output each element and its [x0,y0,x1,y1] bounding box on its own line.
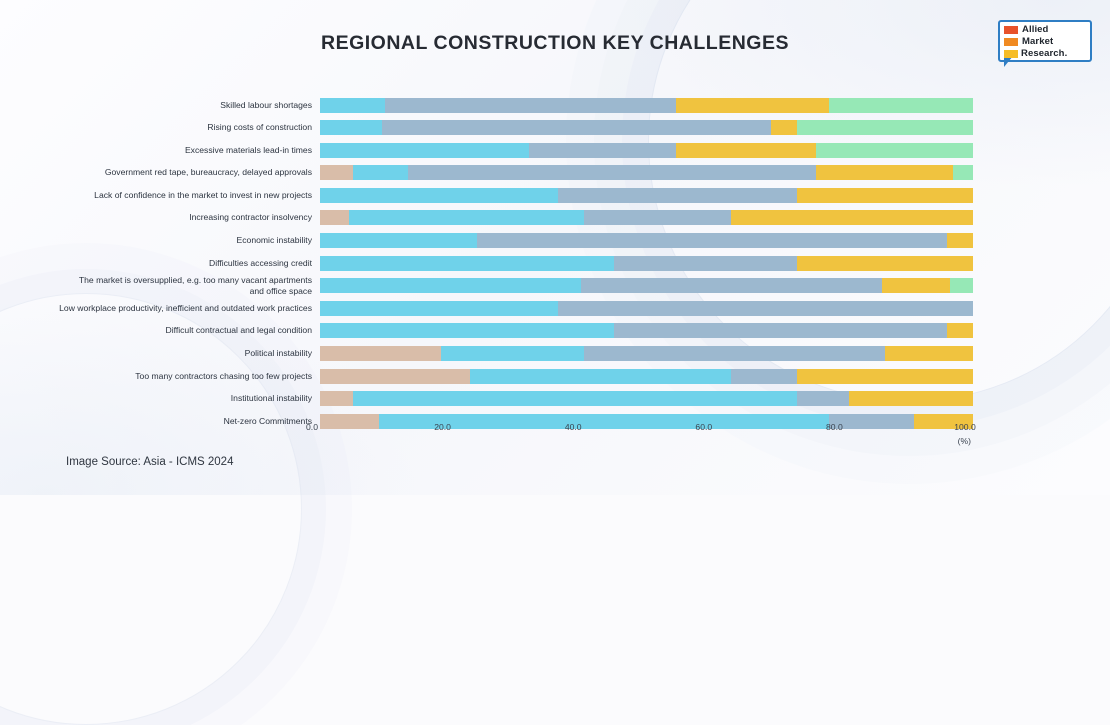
logo-swatch-yellow-icon [1004,50,1018,58]
bar-segment-series-1[interactable] [320,369,470,384]
bar-segment-series-4[interactable] [882,278,951,293]
stacked-bar[interactable] [320,143,973,158]
bar-segment-series-2[interactable] [320,323,614,338]
image-source-caption: Image Source: Asia - ICMS 2024 [66,456,233,468]
bar-segment-series-1[interactable] [320,346,441,361]
bar-segment-series-3[interactable] [731,369,796,384]
chart-rows: Skilled labour shortagesRising costs of … [0,96,1110,435]
bar-segment-series-2[interactable] [320,278,581,293]
category-label: Difficult contractual and legal conditio… [0,325,320,336]
stacked-bar[interactable] [320,165,973,180]
category-label: Government red tape, bureaucracy, delaye… [0,167,320,178]
category-label: Net-zero Commitments [0,416,320,427]
stacked-bar[interactable] [320,210,973,225]
bar-segment-series-2[interactable] [320,233,477,248]
chart-row: Rising costs of construction [0,119,1110,137]
category-label: Economic instability [0,235,320,246]
bar-segment-series-2[interactable] [353,165,409,180]
bar-segment-series-4[interactable] [797,188,973,203]
bar-segment-series-5[interactable] [797,120,973,135]
bar-segment-series-3[interactable] [558,188,796,203]
chart-row: Economic instability [0,232,1110,250]
chart-row: Political instability [0,345,1110,363]
stacked-bar-chart: Skilled labour shortagesRising costs of … [0,96,1110,431]
category-label: Institutional instability [0,393,320,404]
bar-segment-series-1[interactable] [320,165,353,180]
bar-segment-series-5[interactable] [953,165,973,180]
logo-swatch-orange-icon [1004,38,1018,46]
bar-segment-series-4[interactable] [771,120,797,135]
bar-segment-series-4[interactable] [885,346,973,361]
logo-row-3: Research. [1004,49,1110,58]
bar-segment-series-3[interactable] [529,143,676,158]
stacked-bar[interactable] [320,301,973,316]
bar-segment-series-2[interactable] [470,369,731,384]
x-axis-unit-label: (%) [958,436,971,446]
page-title: REGIONAL CONSTRUCTION KEY CHALLENGES [0,32,1110,55]
chart-row: Difficult contractual and legal conditio… [0,322,1110,340]
chart-row: Government red tape, bureaucracy, delaye… [0,164,1110,182]
logo-row-1: Allied [1004,25,1110,34]
bar-segment-series-2[interactable] [353,391,797,406]
bar-segment-series-3[interactable] [385,98,676,113]
bar-segment-series-2[interactable] [349,210,584,225]
bar-segment-series-3[interactable] [558,301,973,316]
bar-segment-series-1[interactable] [320,210,349,225]
logo-text-rows: Allied Market Research. [1004,25,1110,58]
stacked-bar[interactable] [320,278,973,293]
bar-segment-series-2[interactable] [320,256,614,271]
bar-segment-series-2[interactable] [320,143,529,158]
category-label: Political instability [0,348,320,359]
bar-segment-series-3[interactable] [584,346,884,361]
category-label: Increasing contractor insolvency [0,212,320,223]
allied-market-research-logo: Allied Market Research. [992,18,1092,66]
logo-line-1: Allied [1022,26,1048,34]
bar-segment-series-4[interactable] [797,256,973,271]
bar-segment-series-4[interactable] [731,210,973,225]
bar-segment-series-5[interactable] [950,278,973,293]
stacked-bar[interactable] [320,120,973,135]
chart-row: Too many contractors chasing too few pro… [0,367,1110,385]
stacked-bar[interactable] [320,256,973,271]
chart-row: Skilled labour shortages [0,96,1110,114]
stacked-bar[interactable] [320,188,973,203]
stacked-bar[interactable] [320,346,973,361]
bar-segment-series-3[interactable] [614,256,797,271]
category-label: Too many contractors chasing too few pro… [0,371,320,382]
chart-row: Low workplace productivity, inefficient … [0,299,1110,317]
bar-segment-series-4[interactable] [816,165,953,180]
bar-segment-series-3[interactable] [408,165,816,180]
x-axis-tick-label: 0.0 [306,422,318,432]
category-label: Lack of confidence in the market to inve… [0,190,320,201]
bar-segment-series-2[interactable] [320,188,558,203]
bar-segment-series-2[interactable] [320,120,382,135]
bar-segment-series-2[interactable] [320,301,558,316]
logo-line-2: Market [1022,38,1053,46]
stacked-bar[interactable] [320,323,973,338]
chart-row: The market is oversupplied, e.g. too man… [0,277,1110,295]
bar-segment-series-3[interactable] [382,120,771,135]
stacked-bar[interactable] [320,233,973,248]
chart-row: Difficulties accessing credit [0,254,1110,272]
chart-row: Excessive materials lead-in times [0,141,1110,159]
bar-segment-series-3[interactable] [797,391,849,406]
category-label: Rising costs of construction [0,122,320,133]
bar-segment-series-3[interactable] [614,323,947,338]
bar-segment-series-2[interactable] [441,346,585,361]
x-axis-tick-label: 60.0 [695,422,712,432]
logo-line-3: Research. [1021,50,1067,58]
x-axis: (%) 0.020.040.060.080.0100.0 [312,422,965,452]
stacked-bar[interactable] [320,98,973,113]
bar-segment-series-3[interactable] [584,210,731,225]
x-axis-tick-label: 80.0 [826,422,843,432]
bar-segment-series-5[interactable] [816,143,973,158]
bar-segment-series-4[interactable] [797,369,973,384]
bar-segment-series-4[interactable] [947,233,973,248]
bar-segment-series-3[interactable] [477,233,947,248]
bar-segment-series-4[interactable] [676,143,816,158]
stacked-bar[interactable] [320,369,973,384]
bar-segment-series-4[interactable] [849,391,973,406]
logo-row-2: Market [1004,37,1110,46]
bar-segment-series-2[interactable] [320,98,385,113]
category-label: Low workplace productivity, inefficient … [0,303,320,314]
bar-segment-series-1[interactable] [320,391,353,406]
x-axis-tick-label: 40.0 [565,422,582,432]
logo-swatch-red-icon [1004,26,1018,34]
chart-row: Institutional instability [0,390,1110,408]
category-label: Skilled labour shortages [0,100,320,111]
stacked-bar[interactable] [320,391,973,406]
bar-segment-series-4[interactable] [676,98,829,113]
bar-segment-series-5[interactable] [829,98,973,113]
chart-row: Lack of confidence in the market to inve… [0,186,1110,204]
bar-segment-series-4[interactable] [947,323,973,338]
category-label: The market is oversupplied, e.g. too man… [0,275,320,297]
bar-segment-series-3[interactable] [581,278,881,293]
chart-row: Increasing contractor insolvency [0,209,1110,227]
x-axis-tick-label: 20.0 [434,422,451,432]
x-axis-tick-label: 100.0 [954,422,976,432]
category-label: Difficulties accessing credit [0,258,320,269]
category-label: Excessive materials lead-in times [0,145,320,156]
